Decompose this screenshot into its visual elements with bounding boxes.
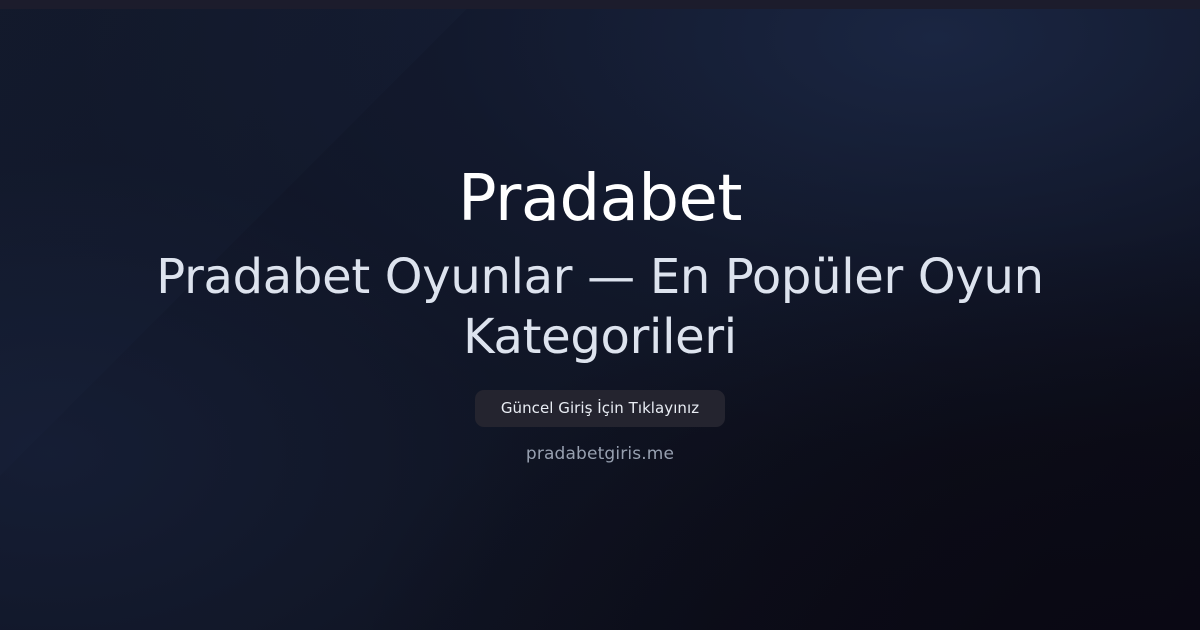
domain-label: pradabetgiris.me (526, 444, 674, 464)
page-headline: Pradabet Oyunlar — En Popüler Oyun Kateg… (120, 247, 1080, 368)
login-cta-button[interactable]: Güncel Giriş İçin Tıklayınız (475, 390, 725, 427)
og-preview-card: Pradabet Pradabet Oyunlar — En Popüler O… (0, 0, 1200, 630)
brand-title: Pradabet (458, 166, 742, 233)
card-content: Pradabet Pradabet Oyunlar — En Popüler O… (0, 0, 1200, 630)
